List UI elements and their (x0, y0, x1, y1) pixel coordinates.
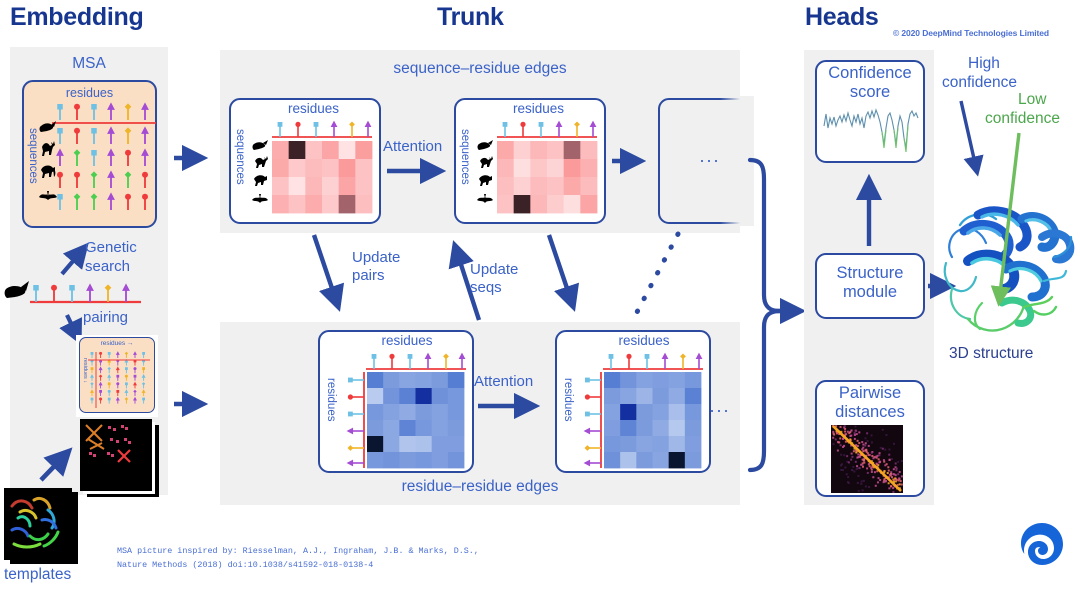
msa-rep-2-heatmap (497, 141, 597, 213)
low-confidence-label-line1: Low (1018, 91, 1046, 109)
msa-organism-icons (38, 120, 58, 220)
msa-rep-1-organism-icons (252, 140, 272, 218)
msa-residues-label: residues (22, 86, 157, 100)
query-sequence-strip (4, 275, 149, 311)
deepmind-logo (1020, 522, 1064, 566)
update-pairs-label-line2: pairs (352, 268, 385, 285)
section-title-embedding: Embedding (10, 3, 143, 32)
structure-to-confidence-arrow (857, 166, 881, 248)
attention-label-top: Attention (383, 139, 442, 156)
structure-module-label-line2: module (815, 283, 925, 301)
genetic-search-label-line1: Genetic (85, 240, 137, 257)
attention-arrow-bottom (476, 395, 556, 417)
residue-residue-edges-label: residue–residue edges (220, 478, 740, 496)
footnote-line-1: MSA picture inspired by: Riesselman, A.J… (117, 545, 479, 558)
msa-rep-2-organism-icons (477, 140, 497, 218)
attention-arrow-top (385, 160, 453, 182)
msa-panel-label: MSA (10, 55, 168, 73)
pair-rep-1-residues-side-label: residues (325, 378, 337, 421)
templates-label: templates (4, 566, 71, 584)
msa-rep-1-sequences-label: sequences (234, 129, 246, 185)
update-seqs-label-line2: seqs (470, 280, 502, 297)
msa-rep-1-residues-label: residues (246, 101, 381, 116)
attention-label-bottom: Attention (474, 374, 533, 391)
high-confidence-label-line1: High (968, 55, 1000, 73)
msa-rep-2-sequences-label: sequences (459, 129, 471, 185)
msa-rep-2-residues-label: residues (471, 101, 606, 116)
sequence-residue-edges-label: sequence–residue edges (220, 60, 740, 78)
paired-token-grid (88, 350, 152, 410)
pair-rep-1-heatmap (367, 372, 464, 468)
pairing-label: pairing (83, 310, 128, 327)
pair-rep-2-residues-top-label: residues (577, 333, 711, 348)
pair-residues-top-label: residues → (79, 340, 155, 347)
update-pairs-arrow-2 (545, 232, 591, 324)
section-title-trunk: Trunk (437, 3, 504, 32)
msa-rep-ellipsis-label: ... (690, 146, 730, 167)
template-contactmap (80, 419, 152, 491)
msa-rep-2-residue-axis (497, 116, 597, 140)
msa-token-grid (52, 100, 158, 226)
pair-rep-1-residues-top-label: residues (340, 333, 474, 348)
confidence-score-label-line2: score (815, 83, 925, 101)
structure-caption: 3D structure (949, 345, 1033, 363)
templates-arrow (38, 440, 84, 486)
pair-rep-2-residues-side-label: residues (562, 378, 574, 421)
footnote-line-2: Nature Methods (2018) doi:10.1038/s41592… (117, 559, 373, 572)
msa-rep-1-residue-axis (272, 116, 372, 140)
templates-structure-image (4, 488, 72, 560)
pairwise-distances-label-line1: Pairwise (815, 384, 925, 402)
pair-rep-1-residue-axis-side (341, 372, 367, 468)
genetic-search-label-line2: search (85, 259, 130, 276)
update-pairs-label-line1: Update (352, 250, 400, 267)
high-confidence-label-line2: confidence (942, 74, 1017, 92)
update-pairs-arrow (310, 232, 356, 324)
structure-module-label-line1: Structure (815, 264, 925, 282)
pair-rep-2-heatmap (604, 372, 701, 468)
confidence-score-label-line1: Confidence (815, 64, 925, 82)
msa-rep-to-ellipsis-arrow (610, 150, 656, 172)
update-seqs-label-line1: Update (470, 262, 518, 279)
msa-rep-1-heatmap (272, 141, 372, 213)
pair-rep-2-residue-axis-top (603, 348, 703, 372)
pair-rep-ellipsis-label: ... (700, 396, 740, 417)
pair-rep-2-residue-axis-side (578, 372, 604, 468)
low-confidence-pointer (985, 130, 1033, 320)
embedding-to-trunk-arrow-bottom (172, 392, 216, 416)
section-title-heads: Heads (805, 3, 879, 32)
pairwise-distance-map (831, 425, 903, 493)
low-confidence-label-line2: confidence (985, 110, 1060, 128)
pairwise-distances-label-line2: distances (815, 403, 925, 421)
copyright-notice: © 2020 DeepMind Technologies Limited (893, 28, 1049, 38)
embedding-to-trunk-arrow-top (172, 146, 216, 170)
pair-rep-1-residue-axis-top (366, 348, 466, 372)
iteration-dotted-line (630, 230, 690, 320)
confidence-score-plot (823, 104, 919, 156)
